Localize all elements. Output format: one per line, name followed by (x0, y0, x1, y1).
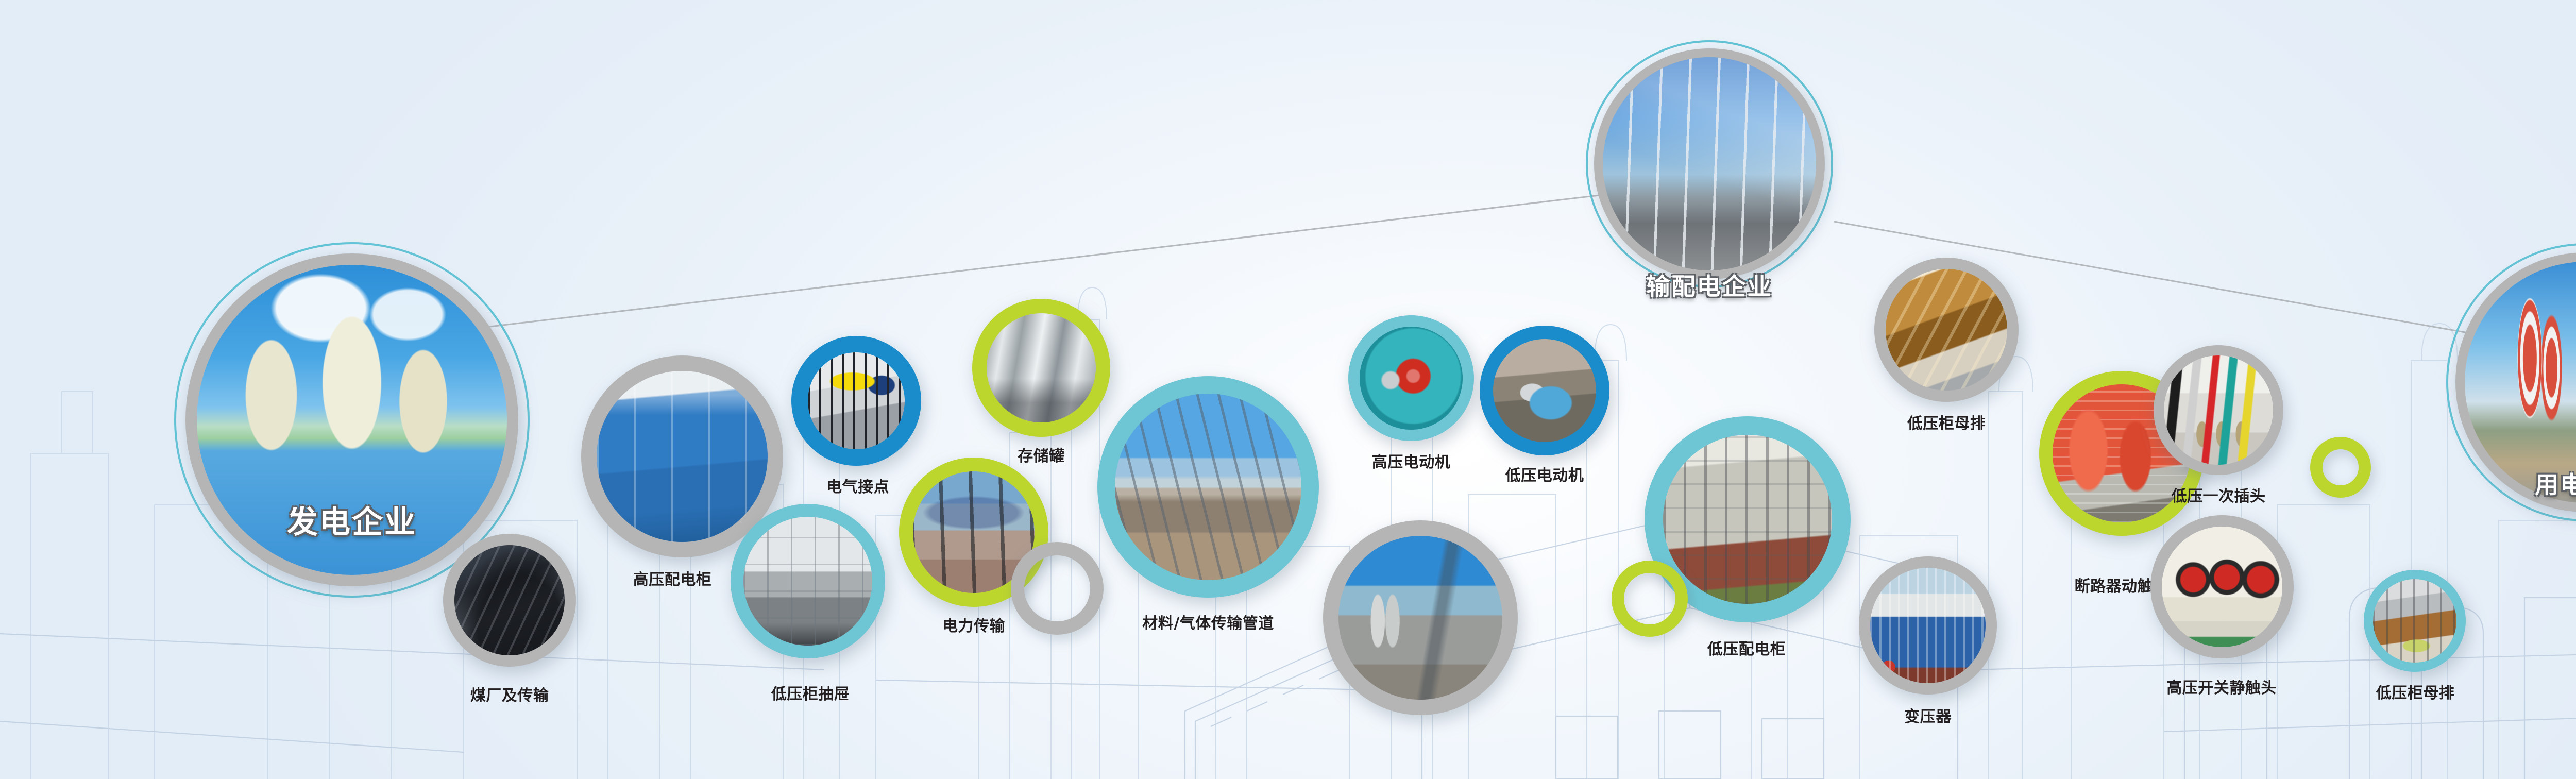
label-storage-tank: 存储罐 (1018, 443, 1065, 466)
photo-storage-tank (987, 313, 1096, 422)
node-hv-motor[interactable] (1348, 315, 1474, 441)
node-transformer[interactable] (1859, 556, 1997, 695)
decorative-ring-green-mid (1612, 561, 1688, 637)
hero-label-transmission-distribution: 输配电企业 (1647, 268, 1773, 302)
infographic-canvas: 发电企业 输配电企业 用电企业 煤厂及传输 高压配电柜 低压柜抽屉 电气接点 存… (0, 0, 2576, 779)
label-lv-distribution-cabinet: 低压配电柜 (1707, 636, 1786, 659)
photo-substation (1603, 57, 1816, 270)
photo-lv-primary-plug (2164, 355, 2273, 465)
label-electrical-contact: 电气接点 (826, 474, 889, 497)
label-coal-plant-transport: 煤厂及传输 (470, 683, 549, 705)
label-lv-cabinet-busbar: 低压柜母排 (1907, 411, 1986, 433)
photo-coal-conveyor (454, 545, 565, 655)
node-storage-tank[interactable] (972, 299, 1110, 437)
photo-hv-switchgear (597, 371, 768, 542)
label-transformer: 变压器 (1904, 704, 1952, 726)
hero-label-power-generation: 发电企业 (287, 497, 417, 542)
node-material-gas-pipeline[interactable] (1097, 376, 1319, 598)
label-hv-distribution-cabinet: 高压配电柜 (633, 567, 712, 589)
node-chemical-plant[interactable] (1323, 520, 1518, 715)
photo-lv-switchgear-room (1663, 435, 1832, 604)
node-transmission-distribution[interactable] (1594, 48, 1825, 279)
label-lv-motor: 低压电动机 (1505, 463, 1584, 485)
hero-label-power-consumer: 用电企业 (2535, 466, 2576, 500)
decorative-ring-green-right (2310, 437, 2371, 498)
node-hv-switch-static-contact[interactable] (2150, 515, 2294, 658)
photo-chemical-plant (1338, 536, 1502, 700)
photo-hv-static-contact (2162, 527, 2282, 647)
label-power-transmission: 电力传输 (942, 613, 1005, 636)
decorative-ring-gray-mid (1011, 542, 1104, 635)
label-hv-motor: 高压电动机 (1372, 449, 1451, 472)
photo-electrical-contact (808, 352, 905, 449)
label-lv-cabinet-drawer: 低压柜抽屉 (771, 681, 850, 704)
photo-hv-motor (1360, 327, 1463, 430)
photo-lv-busbar-right (2373, 579, 2456, 663)
node-lv-cabinet-drawer[interactable] (731, 504, 885, 658)
node-lv-primary-plug[interactable] (2154, 345, 2283, 475)
photo-lv-busbar (1886, 269, 2007, 391)
label-lv-primary-plug: 低压一次插头 (2172, 483, 2266, 506)
photo-pipeline (1115, 394, 1301, 580)
node-lv-motor[interactable] (1480, 326, 1609, 455)
label-material-gas-pipeline: 材料/气体传输管道 (1142, 611, 1274, 633)
node-coal-plant-transport[interactable] (443, 534, 576, 667)
label-lv-cabinet-busbar-right: 低压柜母排 (2376, 680, 2455, 703)
node-lv-cabinet-busbar-right[interactable] (2364, 570, 2466, 672)
node-lv-cabinet-busbar[interactable] (1874, 258, 2019, 402)
label-hv-switch-static-contact: 高压开关静触头 (2166, 675, 2277, 698)
photo-transformer (1870, 568, 1986, 683)
node-electrical-contact[interactable] (791, 336, 921, 466)
photo-lv-motor (1493, 339, 1596, 442)
photo-lv-cabinet-drawer (743, 517, 872, 646)
